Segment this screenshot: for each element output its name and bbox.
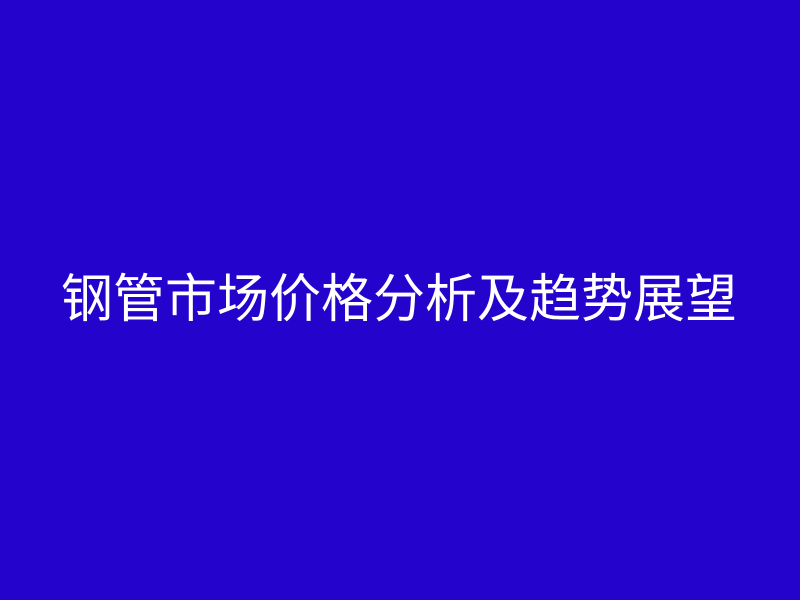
title-slide: 钢管市场价格分析及趋势展望 (0, 0, 800, 600)
title-block: 钢管市场价格分析及趋势展望 (61, 263, 761, 337)
slide-title: 钢管市场价格分析及趋势展望 (61, 271, 737, 329)
